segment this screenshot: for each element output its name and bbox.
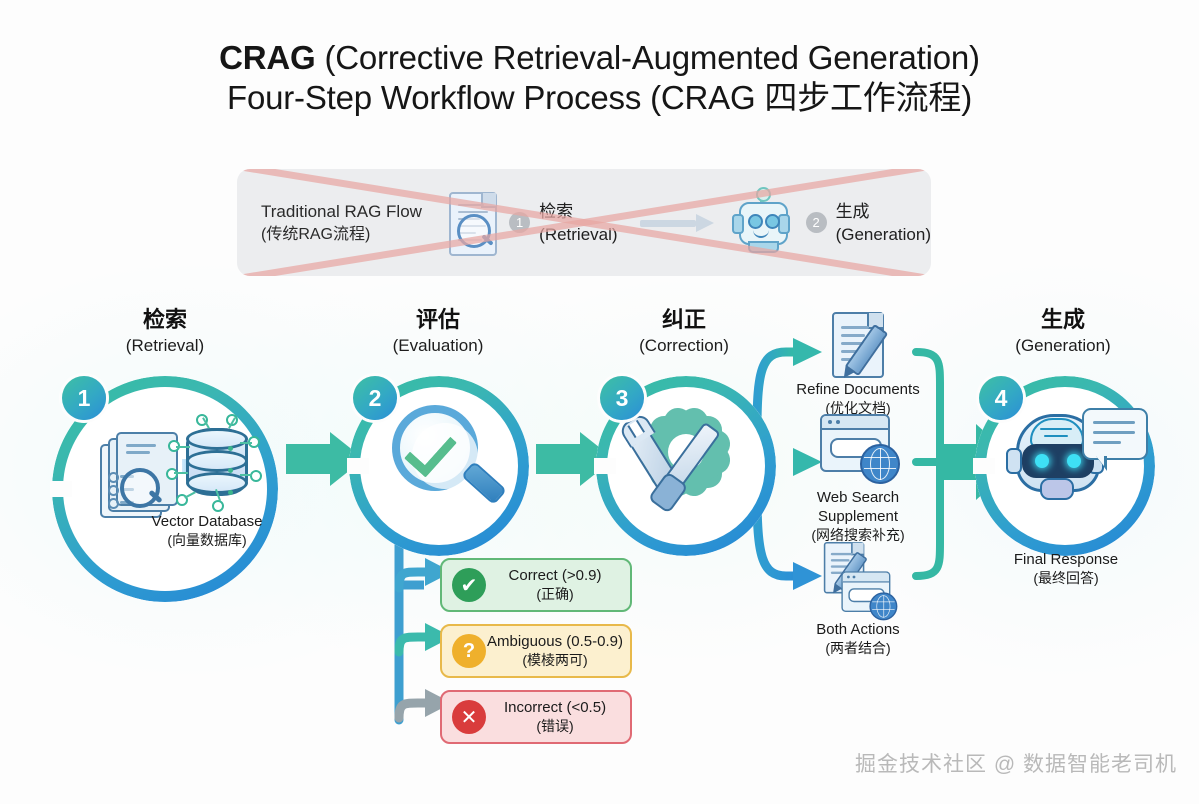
result-chip-incorrect[interactable]: ✕ Incorrect (<0.5) (错误) bbox=[440, 690, 632, 744]
result-ambiguous-label-zh: (模棱两可) bbox=[486, 651, 624, 670]
vector-database-icon bbox=[166, 414, 258, 508]
both-actions-caption: Both Actions (两者结合) bbox=[780, 620, 936, 658]
result-incorrect-label-en: Incorrect (<0.5) bbox=[486, 698, 624, 717]
vector-database-caption-en: Vector Database bbox=[125, 512, 289, 531]
result-ambiguous-label-en: Ambiguous (0.5-0.9) bbox=[486, 632, 624, 651]
cross-icon: ✕ bbox=[452, 700, 486, 734]
document-pencil-icon bbox=[822, 312, 894, 384]
web-search-label-line1: Web Search bbox=[780, 488, 936, 507]
refine-documents-label-en: Refine Documents bbox=[780, 380, 936, 399]
branch-refine-arrowhead bbox=[793, 338, 822, 366]
branch-ambiguous bbox=[399, 637, 428, 652]
vector-database-caption-zh: (向量数据库) bbox=[125, 531, 289, 550]
question-icon: ? bbox=[452, 634, 486, 668]
speech-bubble-icon bbox=[1082, 408, 1148, 460]
result-chip-correct[interactable]: ✔ Correct (>0.9) (正确) bbox=[440, 558, 632, 612]
result-correct-label-zh: (正确) bbox=[486, 585, 624, 604]
document-search-icon-retrieval bbox=[100, 432, 176, 514]
vector-database-caption: Vector Database (向量数据库) bbox=[125, 512, 289, 550]
result-incorrect-label-zh: (错误) bbox=[486, 717, 624, 736]
ai-robot-icon bbox=[1000, 408, 1120, 518]
browser-globe-icon bbox=[818, 412, 900, 484]
magnifier-check-icon bbox=[390, 405, 510, 523]
step-badge-3: 3 bbox=[600, 376, 644, 420]
both-actions-label-zh: (两者结合) bbox=[780, 639, 936, 658]
diagram-canvas: CRAG (Corrective Retrieval-Augmented Gen… bbox=[0, 0, 1199, 804]
branch-incorrect bbox=[399, 703, 428, 718]
result-chip-ambiguous[interactable]: ? Ambiguous (0.5-0.9) (模棱两可) bbox=[440, 624, 632, 678]
step-badge-1: 1 bbox=[62, 376, 106, 420]
final-response-caption: Final Response (最终回答) bbox=[978, 550, 1154, 588]
step-badge-2: 2 bbox=[353, 376, 397, 420]
both-actions-label-en: Both Actions bbox=[780, 620, 936, 639]
evaluation-branch-lines bbox=[399, 534, 424, 720]
final-response-caption-zh: (最终回答) bbox=[978, 569, 1154, 588]
final-response-caption-en: Final Response bbox=[978, 550, 1154, 569]
result-correct-label-en: Correct (>0.9) bbox=[486, 566, 624, 585]
web-search-label-line2: Supplement bbox=[780, 507, 936, 526]
check-icon: ✔ bbox=[452, 568, 486, 602]
web-search-caption: Web Search Supplement (网络搜索补充) bbox=[780, 488, 936, 545]
watermark: 掘金技术社区 @ 数据智能老司机 bbox=[855, 748, 1177, 778]
tools-wrench-screwdriver-icon bbox=[622, 404, 746, 520]
step-badge-4: 4 bbox=[979, 376, 1023, 420]
document-browser-icon bbox=[812, 548, 908, 624]
